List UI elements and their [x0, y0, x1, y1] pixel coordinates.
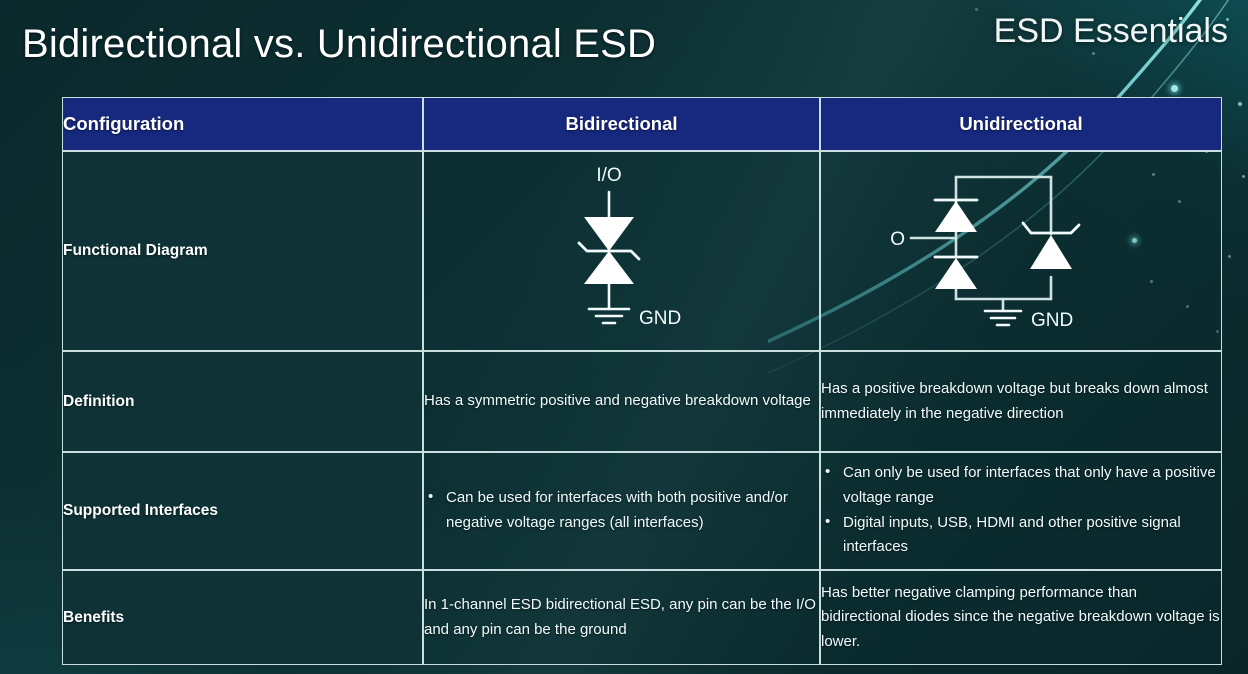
cell-definition-unidirectional: Has a positive breakdown voltage but bre… — [820, 351, 1222, 452]
row-label-definition: Definition — [62, 351, 423, 452]
slide-header: Bidirectional vs. Unidirectional ESD ESD… — [0, 0, 1248, 92]
cell-bidirectional-diagram: I/O GND — [423, 151, 820, 351]
gnd-label: GND — [1031, 310, 1073, 331]
cell-definition-bidirectional: Has a symmetric positive and negative br… — [423, 351, 820, 452]
unidirectional-tvs-diode-circuit: I/O GND — [891, 159, 1151, 344]
table-row: Functional Diagram — [62, 151, 1222, 351]
cell-interfaces-bidirectional: Can be used for interfaces with both pos… — [423, 452, 820, 570]
row-label-supported-interfaces: Supported Interfaces — [62, 452, 423, 570]
column-header-bidirectional: Bidirectional — [423, 97, 820, 151]
list-item: Can only be used for interfaces that onl… — [821, 461, 1221, 510]
deck-label: ESD Essentials — [994, 12, 1228, 51]
cell-unidirectional-diagram: I/O GND — [820, 151, 1222, 351]
row-label-functional-diagram: Functional Diagram — [62, 151, 423, 351]
cell-benefits-unidirectional: Has better negative clamping performance… — [820, 570, 1222, 665]
bidirectional-tvs-diode-circuit: I/O GND — [527, 159, 717, 344]
table-header-row: Configuration Bidirectional Unidirection… — [62, 97, 1222, 151]
gnd-label: GND — [639, 308, 681, 329]
bullet-list: Can be used for interfaces with both pos… — [424, 486, 819, 535]
bullet-list: Can only be used for interfaces that onl… — [821, 461, 1221, 559]
list-item: Can be used for interfaces with both pos… — [424, 486, 819, 535]
page-title: Bidirectional vs. Unidirectional ESD — [22, 22, 656, 67]
cell-interfaces-unidirectional: Can only be used for interfaces that onl… — [820, 452, 1222, 570]
row-label-benefits: Benefits — [62, 570, 423, 665]
io-label: I/O — [596, 165, 621, 186]
table-row: Supported Interfaces Can be used for int… — [62, 452, 1222, 570]
column-header-configuration: Configuration — [62, 97, 423, 151]
io-label: I/O — [891, 229, 905, 250]
comparison-table: Configuration Bidirectional Unidirection… — [62, 97, 1222, 665]
table-row: Benefits In 1-channel ESD bidirectional … — [62, 570, 1222, 665]
table-row: Definition Has a symmetric positive and … — [62, 351, 1222, 452]
list-item: Digital inputs, USB, HDMI and other posi… — [821, 511, 1221, 560]
column-header-unidirectional: Unidirectional — [820, 97, 1222, 151]
cell-benefits-bidirectional: In 1-channel ESD bidirectional ESD, any … — [423, 570, 820, 665]
